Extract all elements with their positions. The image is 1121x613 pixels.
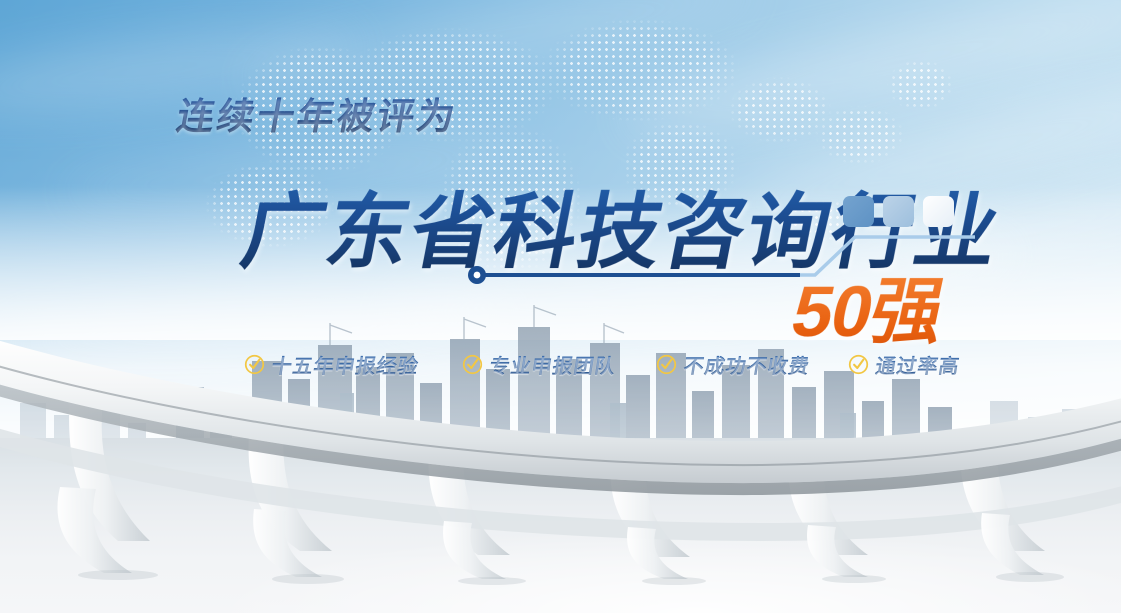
feature-badge-label: 专业申报团队 <box>488 350 619 379</box>
decor-square-mid <box>883 196 914 227</box>
feature-badge-list: 十五年申报经验 专业申报团队 不成功不收费 <box>244 350 960 379</box>
feature-badge: 专业申报团队 <box>462 350 616 379</box>
decor-square-solid <box>843 196 874 227</box>
decor-square-light <box>923 196 954 227</box>
check-circle-icon <box>848 354 869 375</box>
feature-badge-label: 十五年申报经验 <box>270 350 422 379</box>
check-circle-icon <box>656 354 677 375</box>
check-circle-icon <box>462 354 483 375</box>
rank-badge-text: 50强 <box>784 252 955 357</box>
kicker-text: 连续十年被评为 <box>173 86 463 140</box>
check-circle-icon <box>244 354 265 375</box>
feature-badge-label: 不成功不收费 <box>682 350 813 379</box>
promo-banner: 连续十年被评为 广东省科技咨询行业 50强 十五年申报经验 <box>0 0 1121 613</box>
feature-badge-label: 通过率高 <box>874 350 963 379</box>
feature-badge: 不成功不收费 <box>656 350 810 379</box>
feature-badge: 十五年申报经验 <box>244 350 419 379</box>
banner-content: 连续十年被评为 广东省科技咨询行业 50强 十五年申报经验 <box>0 0 1121 613</box>
decor-squares <box>843 196 954 227</box>
feature-badge: 通过率高 <box>848 350 960 379</box>
